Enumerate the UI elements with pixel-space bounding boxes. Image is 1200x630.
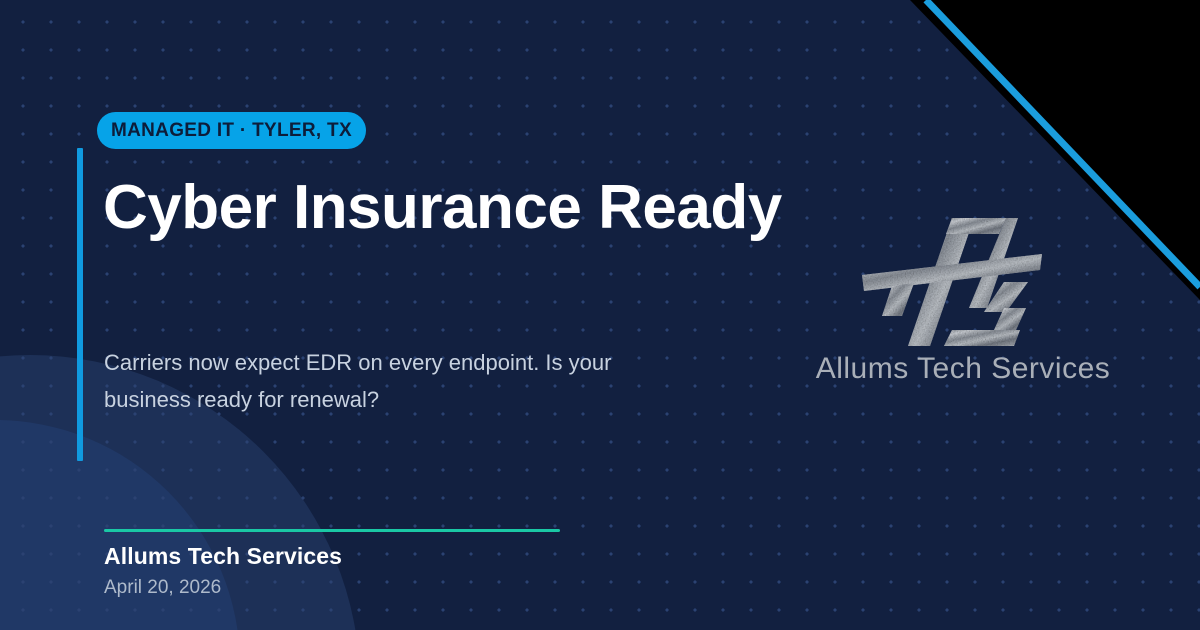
page-subtitle: Carriers now expect EDR on every endpoin… [104, 344, 674, 418]
logo-wordmark: Allums Tech Services [808, 352, 1118, 386]
category-badge-label: MANAGED IT · TYLER, TX [111, 120, 352, 142]
footer-brand-name: Allums Tech Services [104, 543, 342, 570]
card-content: MANAGED IT · TYLER, TX Cyber Insurance R… [0, 0, 1200, 630]
footer-date: April 20, 2026 [104, 577, 221, 599]
social-share-card: MANAGED IT · TYLER, TX Cyber Insurance R… [0, 0, 1200, 630]
company-logo: Allums Tech Services [808, 212, 1118, 392]
category-badge: MANAGED IT · TYLER, TX [97, 112, 366, 149]
page-title: Cyber Insurance Ready [103, 172, 803, 244]
as-monogram-icon [856, 212, 1066, 352]
vertical-accent-bar [77, 148, 83, 461]
footer-divider [104, 529, 560, 532]
